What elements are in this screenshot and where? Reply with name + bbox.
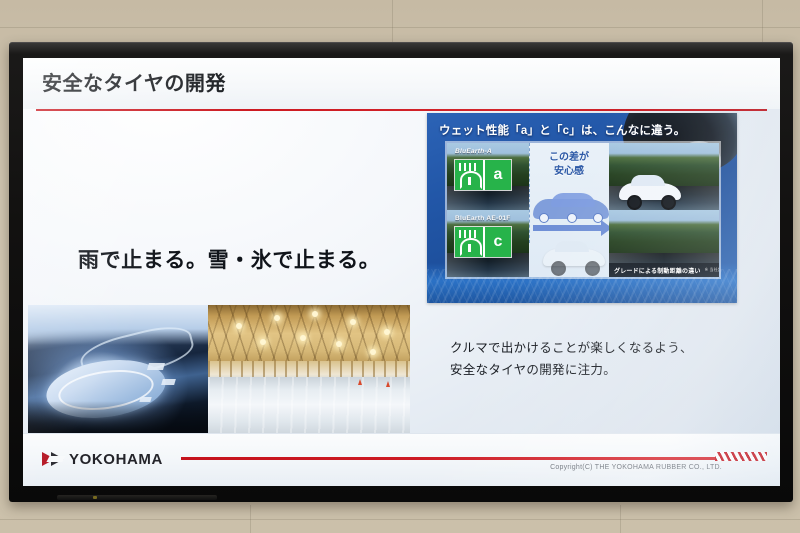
wall-seam (0, 27, 800, 28)
ceiling-lamp-icon (274, 315, 280, 321)
umbrella-icon (460, 238, 482, 256)
roof-beams-cross (208, 305, 410, 367)
bezel-control-strip (57, 495, 217, 500)
photo-ice-test-facility (208, 305, 410, 435)
umbrella-icon (460, 171, 482, 189)
ceiling-lamp-icon (336, 341, 342, 347)
braking-distance-car-silhouette-2 (551, 193, 595, 207)
comparison-board: BluEarth-A a BluEarth AE-01F (447, 143, 719, 277)
course-building (147, 363, 165, 370)
tree-line (609, 210, 719, 253)
ceiling-lamp-icon (350, 319, 356, 325)
wet-grip-label-c: c (455, 227, 511, 257)
copyright-text: Copyright(C) THE YOKOHAMA RUBBER CO., LT… (550, 464, 722, 471)
slide-footer: YOKOHAMA Copyright(C) THE YOKOHAMA RUBBE… (23, 433, 780, 486)
grade-letter-top: a (483, 160, 511, 190)
distance-arrow-bar (533, 225, 605, 231)
wet-grip-icon (455, 160, 483, 190)
bezel-highlight (9, 42, 793, 54)
ceiling-lamp-icon (236, 323, 242, 329)
power-led-icon (93, 496, 97, 499)
umbrella-stem-icon (468, 244, 471, 252)
grade-letter-bottom: c (483, 227, 511, 257)
car-wheel (551, 261, 566, 276)
yokohama-logo: YOKOHAMA (42, 450, 163, 468)
wet-panel-heading: ウェット性能「a」と「c」は、こんなに違う。 (439, 122, 686, 138)
footer-stripe-mark (715, 452, 767, 461)
product-name-top: BluEarth-A (455, 148, 492, 155)
car-cabin (631, 175, 665, 186)
car-wheel (661, 195, 676, 210)
ice-floor-reflection (208, 377, 410, 435)
wall-seam (392, 0, 393, 42)
wall-seam (0, 519, 800, 520)
slide-body-text: クルマで出かけることが楽しくなるよう、 安全なタイヤの開発に注力。 (450, 338, 693, 382)
board-right-column (609, 143, 719, 277)
difference-callout-line2: 安心感 (554, 166, 584, 177)
slide-headline: 雨で止まる。雪・氷で止まる。 (78, 244, 380, 274)
tree-line (609, 143, 719, 186)
presentation-slide: 安全なタイヤの開発 雨で止まる。雪・氷で止まる。 ウェット性能「a」と「c」は、… (23, 58, 780, 486)
screenshot-stage: 安全なタイヤの開発 雨で止まる。雪・氷で止まる。 ウェット性能「a」と「c」は、… (0, 0, 800, 533)
board-caption: グレードによる制動距離の違い ※ 当社調べ 時速100km/h (609, 263, 719, 277)
board-left-column: BluEarth-A a BluEarth AE-01F (447, 143, 529, 277)
ceiling-lamp-icon (370, 349, 376, 355)
y-mark-notch (46, 456, 65, 462)
ceiling-lamp-icon (312, 311, 318, 317)
board-caption-footnote: ※ 当社調べ 時速100km/h (705, 267, 719, 273)
body-line-2: 安全なタイヤの開発に注力。 (450, 360, 693, 382)
wall-seam (762, 0, 763, 42)
car-wheel (627, 195, 642, 210)
footer-accent-rule (181, 457, 767, 460)
board-caption-text: グレードによる制動距離の違い (614, 266, 701, 275)
course-building (161, 379, 176, 385)
ceiling-lamp-icon (384, 329, 390, 335)
page-title: 安全なタイヤの開発 (42, 67, 226, 96)
wet-grip-icon (455, 227, 483, 257)
rain-drops-icon (459, 230, 479, 238)
difference-callout: この差が 安心感 (529, 151, 609, 178)
photo-snow-test-course (28, 305, 208, 435)
wet-grip-label-a: a (455, 160, 511, 190)
logo-wordmark: YOKOHAMA (69, 452, 163, 467)
car-wheel (585, 261, 600, 276)
umbrella-stem-icon (468, 177, 471, 185)
difference-callout-line1: この差が (549, 152, 589, 163)
yokohama-y-mark-icon (42, 452, 66, 467)
body-line-1: クルマで出かけることが楽しくなるよう、 (450, 338, 693, 360)
product-name-bottom: BluEarth AE-01F (455, 215, 511, 222)
rain-drops-icon (459, 163, 479, 171)
wet-performance-panel: ウェット性能「a」と「c」は、こんなに違う。 BluEarth-A (427, 113, 737, 303)
silhouette-wheel (567, 213, 577, 223)
ceiling-lamp-icon (300, 335, 306, 341)
car-cabin (555, 241, 589, 252)
title-divider (36, 109, 767, 111)
snow-foreground-shadow (28, 401, 208, 435)
ceiling-lamp-icon (260, 339, 266, 345)
silhouette-wheel (539, 213, 549, 223)
